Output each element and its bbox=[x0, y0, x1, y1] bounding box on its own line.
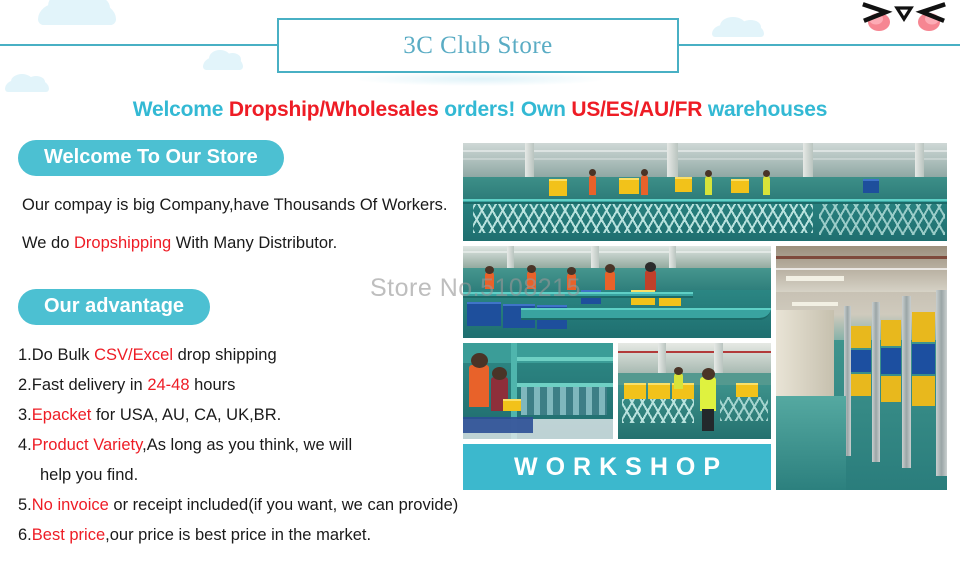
left-content-column: Welcome To Our Store Our compay is big C… bbox=[0, 140, 460, 550]
advantage-item-number: 4. bbox=[18, 436, 32, 454]
welcome-paragraphs: Our compay is big Company,have Thousands… bbox=[0, 190, 460, 259]
advantage-item-number: 6. bbox=[18, 526, 32, 544]
welcome-headline: Welcome Dropship/Wholesales orders! Own … bbox=[0, 98, 960, 122]
welcome-headline-part3: orders! Own bbox=[439, 98, 572, 121]
advantage-list-item: 3.Epacket for USA, AU, CA, UK,BR. bbox=[18, 400, 460, 430]
advantage-list-item: 4.Product Variety,As long as you think, … bbox=[18, 430, 460, 490]
promo-banner-page: 3C Club Store Welcome Dropship/Wholesale… bbox=[0, 0, 960, 580]
packing-station-photo bbox=[463, 343, 613, 439]
advantage-item-highlight: Best price bbox=[32, 526, 105, 544]
warehouse-aisle-photo bbox=[776, 246, 947, 490]
advantage-item-post: or receipt included(if you want, we can … bbox=[109, 496, 458, 514]
advantage-list-item: 1.Do Bulk CSV/Excel drop shipping bbox=[18, 340, 460, 370]
advantage-item-number: 5. bbox=[18, 496, 32, 514]
advantage-item-number: 1. bbox=[18, 346, 32, 364]
page-title: 3C Club Store bbox=[403, 32, 553, 60]
header-rule-right bbox=[678, 44, 960, 46]
header-rule-left bbox=[0, 44, 278, 46]
welcome-headline-part1: Welcome bbox=[133, 98, 229, 121]
advantage-list: 1.Do Bulk CSV/Excel drop shipping 2.Fast… bbox=[18, 340, 460, 550]
cloud-decoration-icon bbox=[203, 57, 243, 70]
welcome-headline-warehouses-list: US/ES/AU/FR bbox=[571, 98, 702, 121]
advantage-item-post: ,our price is best price in the market. bbox=[105, 526, 371, 544]
cloud-decoration-icon bbox=[712, 25, 764, 37]
factory-conveyor-wide-photo bbox=[463, 143, 947, 241]
yellow-bins-line-photo bbox=[618, 343, 771, 439]
advantage-item-pre: Do Bulk bbox=[32, 346, 94, 364]
cloud-decoration-icon bbox=[5, 80, 49, 92]
welcome-store-section: Welcome To Our Store Our compay is big C… bbox=[0, 140, 460, 259]
advantage-item-highlight: CSV/Excel bbox=[94, 346, 173, 364]
workshop-banner: WORKSHOP bbox=[463, 444, 771, 490]
welcome-headline-dropship: Dropship/Wholesales bbox=[229, 98, 439, 121]
cloud-decoration-icon bbox=[38, 3, 116, 25]
advantage-item-post: drop shipping bbox=[173, 346, 277, 364]
store-title-box: 3C Club Store bbox=[277, 18, 679, 73]
advantage-item-highlight: 24-48 bbox=[147, 376, 189, 394]
dropshipping-keyword: Dropshipping bbox=[74, 234, 171, 252]
dropshipping-paragraph-post: With Many Distributor. bbox=[171, 234, 337, 252]
advantage-list-item: 6.Best price,our price is best price in … bbox=[18, 520, 460, 550]
advantage-list-item: 5.No invoice or receipt included(if you … bbox=[18, 490, 460, 520]
welcome-headline-part5: warehouses bbox=[702, 98, 827, 121]
our-advantage-section: Our advantage 1.Do Bulk CSV/Excel drop s… bbox=[0, 289, 460, 550]
kaomoji-blush-face-icon bbox=[862, 2, 946, 32]
dropshipping-paragraph: We do Dropshipping With Many Distributor… bbox=[22, 228, 454, 259]
advantage-item-highlight: No invoice bbox=[32, 496, 109, 514]
advantage-item-highlight: Product Variety bbox=[32, 436, 142, 454]
dropshipping-paragraph-pre: We do bbox=[22, 234, 74, 252]
company-description-paragraph: Our compay is big Company,have Thousands… bbox=[22, 190, 454, 221]
advantage-list-item: 2.Fast delivery in 24-48 hours bbox=[18, 370, 460, 400]
title-glow-decoration bbox=[355, 72, 605, 86]
advantage-item-number: 3. bbox=[18, 406, 32, 424]
sorting-line-photo bbox=[463, 246, 771, 338]
page-header: 3C Club Store bbox=[0, 0, 960, 92]
our-advantage-pill: Our advantage bbox=[18, 289, 210, 325]
advantage-item-post: for USA, AU, CA, UK,BR. bbox=[91, 406, 281, 424]
advantage-item-post: ,As long as you think, we will bbox=[142, 436, 352, 454]
workshop-photo-collage: WORKSHOP bbox=[463, 143, 947, 490]
advantage-item-number: 2. bbox=[18, 376, 32, 394]
advantage-item-pre: Fast delivery in bbox=[32, 376, 148, 394]
welcome-to-our-store-pill: Welcome To Our Store bbox=[18, 140, 284, 176]
advantage-item-post: hours bbox=[190, 376, 236, 394]
workshop-label: WORKSHOP bbox=[506, 453, 728, 482]
advantage-item-highlight: Epacket bbox=[32, 406, 92, 424]
advantage-item-continuation: help you find. bbox=[40, 460, 460, 490]
